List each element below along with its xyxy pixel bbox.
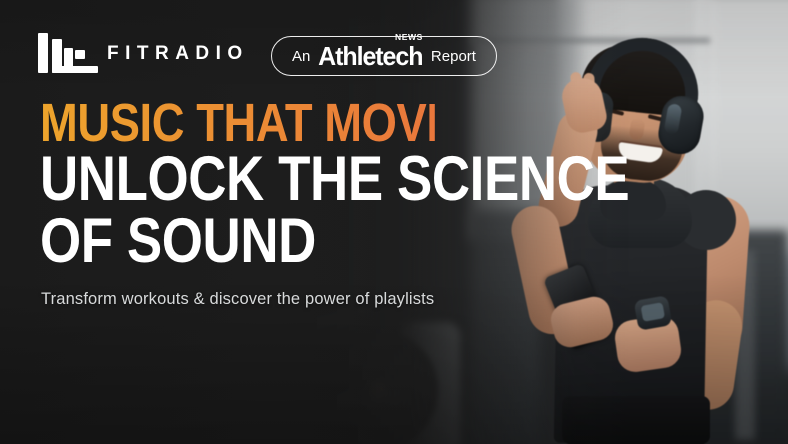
athletech-news-superscript: NEWS (395, 33, 423, 42)
badge-suffix: Report (431, 49, 476, 64)
athletech-wordmark: Athletech (319, 43, 423, 69)
brand-row[interactable]: FITRADIO (38, 33, 249, 73)
badge-prefix: An (292, 49, 310, 64)
banner-content: FITRADIO An Athletech NEWS Report MUSIC … (0, 0, 788, 444)
headline-line-2: UNLOCK THE SCIENCE (40, 149, 435, 209)
fitradio-bars-logo-icon (38, 33, 85, 73)
fitradio-wordmark: FITRADIO (107, 44, 249, 63)
fitradio-promo-banner: FITRADIO An Athletech NEWS Report MUSIC … (0, 0, 788, 444)
subheadline: Transform workouts & discover the power … (41, 290, 434, 310)
headline-line-3: OF SOUND (40, 211, 435, 271)
athletech-news-report-badge[interactable]: An Athletech NEWS Report (271, 36, 497, 76)
headline-line-1: MUSIC THAT MOVES: (40, 97, 435, 149)
athletech-logo: Athletech NEWS (316, 43, 425, 69)
headline-block: MUSIC THAT MOVES: UNLOCK THE SCIENCE OF … (40, 97, 510, 271)
